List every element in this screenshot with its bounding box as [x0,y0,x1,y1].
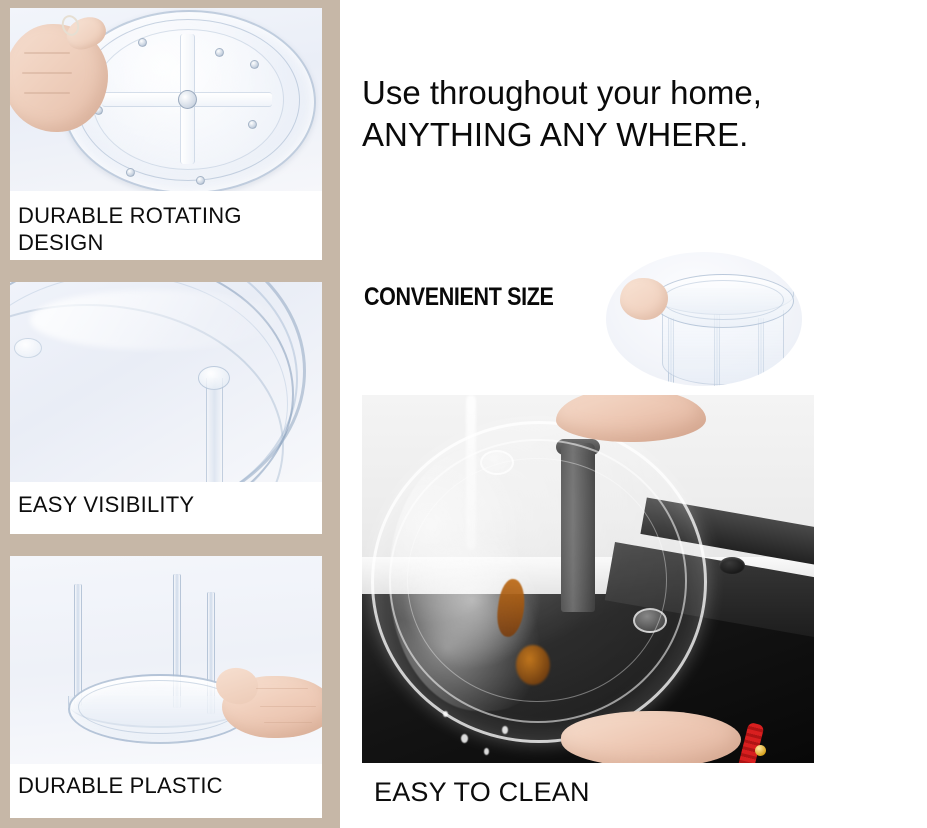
finger-crease [24,52,70,54]
specular-highlight [30,290,280,350]
right-content-column: Use throughout your home, ANYTHING ANY W… [340,0,927,828]
drain-hole [719,557,745,574]
divider-post [206,378,223,482]
bracelet-bead [755,745,766,756]
convenient-size-label: CONVENIENT SIZE [364,283,554,312]
post-socket-boss [14,338,42,358]
bearing-stud [250,60,259,69]
turntable-center-hub [178,90,197,109]
hand-lower [561,711,741,763]
feature-panel-durable-plastic[interactable]: DURABLE PLASTIC [10,556,322,818]
panel-caption: DURABLE ROTATING DESIGN [10,198,322,256]
photo-durable-plastic [10,556,322,764]
product-feature-collage: DURABLE ROTATING DESIGN EASY VISIBILITY [0,0,927,828]
finger-crease [24,92,70,94]
bearing-stud [248,120,257,129]
bearing-stud [215,48,224,57]
feature-panel-easy-visibility[interactable]: EASY VISIBILITY [10,282,322,534]
feature-panel-durable-rotating-design[interactable]: DURABLE ROTATING DESIGN [10,8,322,260]
hand-upper [556,395,706,442]
panel-caption: EASY VISIBILITY [10,487,322,518]
main-photo-caption: EASY TO CLEAN [374,776,590,808]
photo-easy-to-clean [362,395,814,763]
panel-caption: DURABLE PLASTIC [10,768,322,799]
sauce-residue [516,645,550,685]
hand [620,278,668,320]
divider-post [74,584,82,706]
finger-crease [22,72,72,74]
left-feature-column: DURABLE ROTATING DESIGN EASY VISIBILITY [0,0,340,828]
bearing-stud [138,38,147,47]
photo-durable-rotating-design [10,8,322,191]
bearing-stud [196,176,205,185]
bearing-stud [126,168,135,177]
page-headline: Use throughout your home, ANYTHING ANY W… [362,72,902,156]
photo-easy-visibility [10,282,322,482]
post-socket-boss [198,366,230,390]
tray-inner-ring [662,280,784,320]
photo-convenient-size [606,252,802,386]
